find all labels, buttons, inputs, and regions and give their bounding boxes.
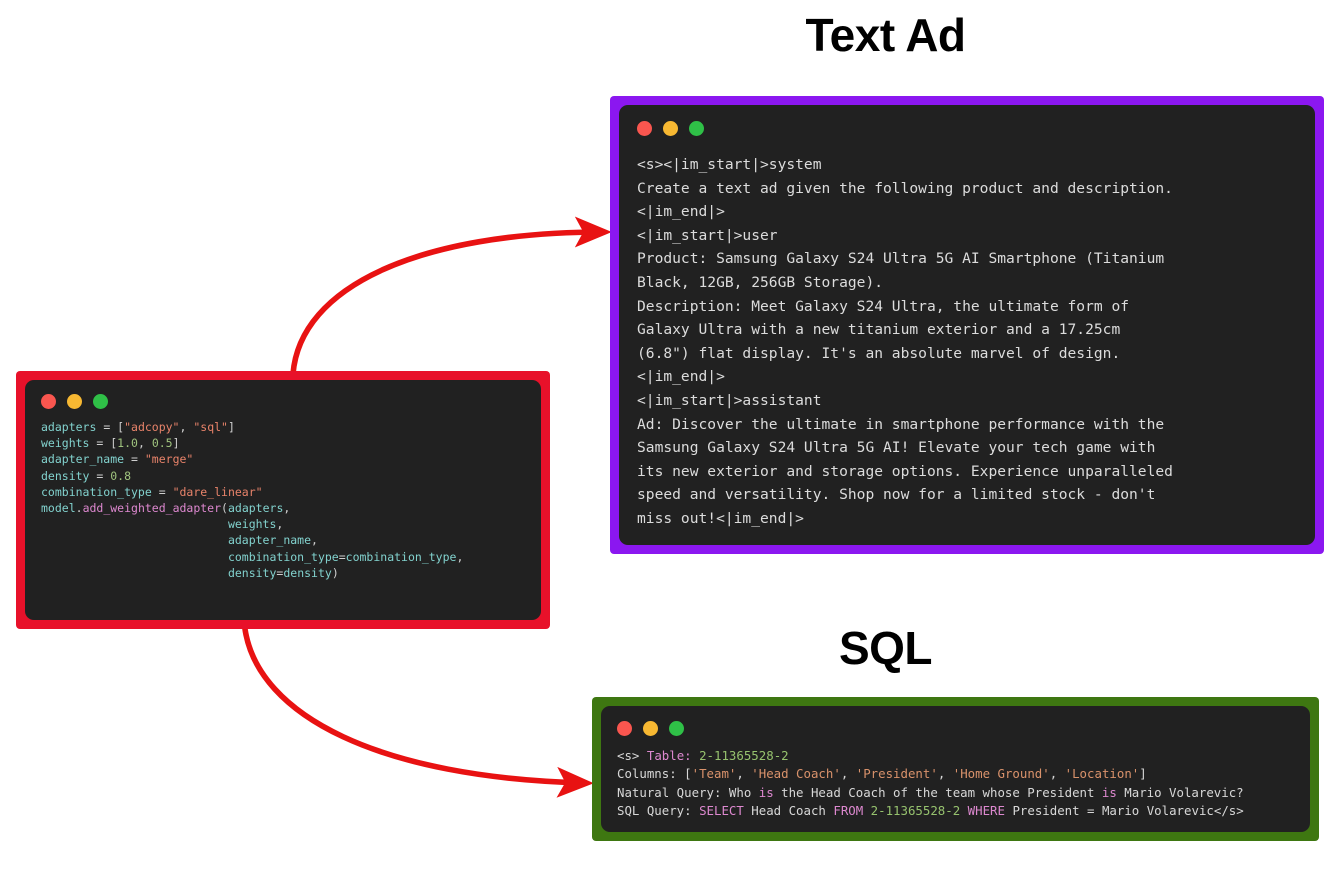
sql-window-body: <s> Table: 2-11365528-2 Columns: ['Team'… [601, 706, 1310, 832]
window-controls[interactable] [637, 120, 1297, 136]
page-title-text-ad: Text Ad [222, 8, 1327, 62]
minimize-icon[interactable] [663, 121, 678, 136]
text-ad-window[interactable]: <s><|im_start|>system Create a text ad g… [610, 96, 1324, 554]
minimize-icon[interactable] [67, 394, 82, 409]
sql-window[interactable]: <s> Table: 2-11365528-2 Columns: ['Team'… [592, 697, 1319, 841]
merge-code-window[interactable]: adapters = ["adcopy", "sql"] weights = [… [16, 371, 550, 629]
close-icon[interactable] [637, 121, 652, 136]
merge-code-window-body: adapters = ["adcopy", "sql"] weights = [… [25, 380, 541, 620]
arrow-merge-to-text-ad [293, 232, 604, 374]
merge-code-block: adapters = ["adcopy", "sql"] weights = [… [41, 419, 525, 581]
zoom-icon[interactable] [689, 121, 704, 136]
page-title-sql: SQL [222, 621, 1327, 675]
text-ad-window-body: <s><|im_start|>system Create a text ad g… [619, 105, 1315, 545]
diagram-canvas: Text Ad SQL adapters = ["adcopy", "sql"]… [0, 0, 1327, 869]
close-icon[interactable] [617, 721, 632, 736]
window-controls[interactable] [617, 720, 1294, 736]
text-ad-prompt-text: <s><|im_start|>system Create a text ad g… [637, 153, 1297, 531]
close-icon[interactable] [41, 394, 56, 409]
minimize-icon[interactable] [643, 721, 658, 736]
zoom-icon[interactable] [93, 394, 108, 409]
window-controls[interactable] [41, 393, 525, 409]
zoom-icon[interactable] [669, 721, 684, 736]
sql-prompt-text: <s> Table: 2-11365528-2 Columns: ['Team'… [617, 747, 1294, 820]
